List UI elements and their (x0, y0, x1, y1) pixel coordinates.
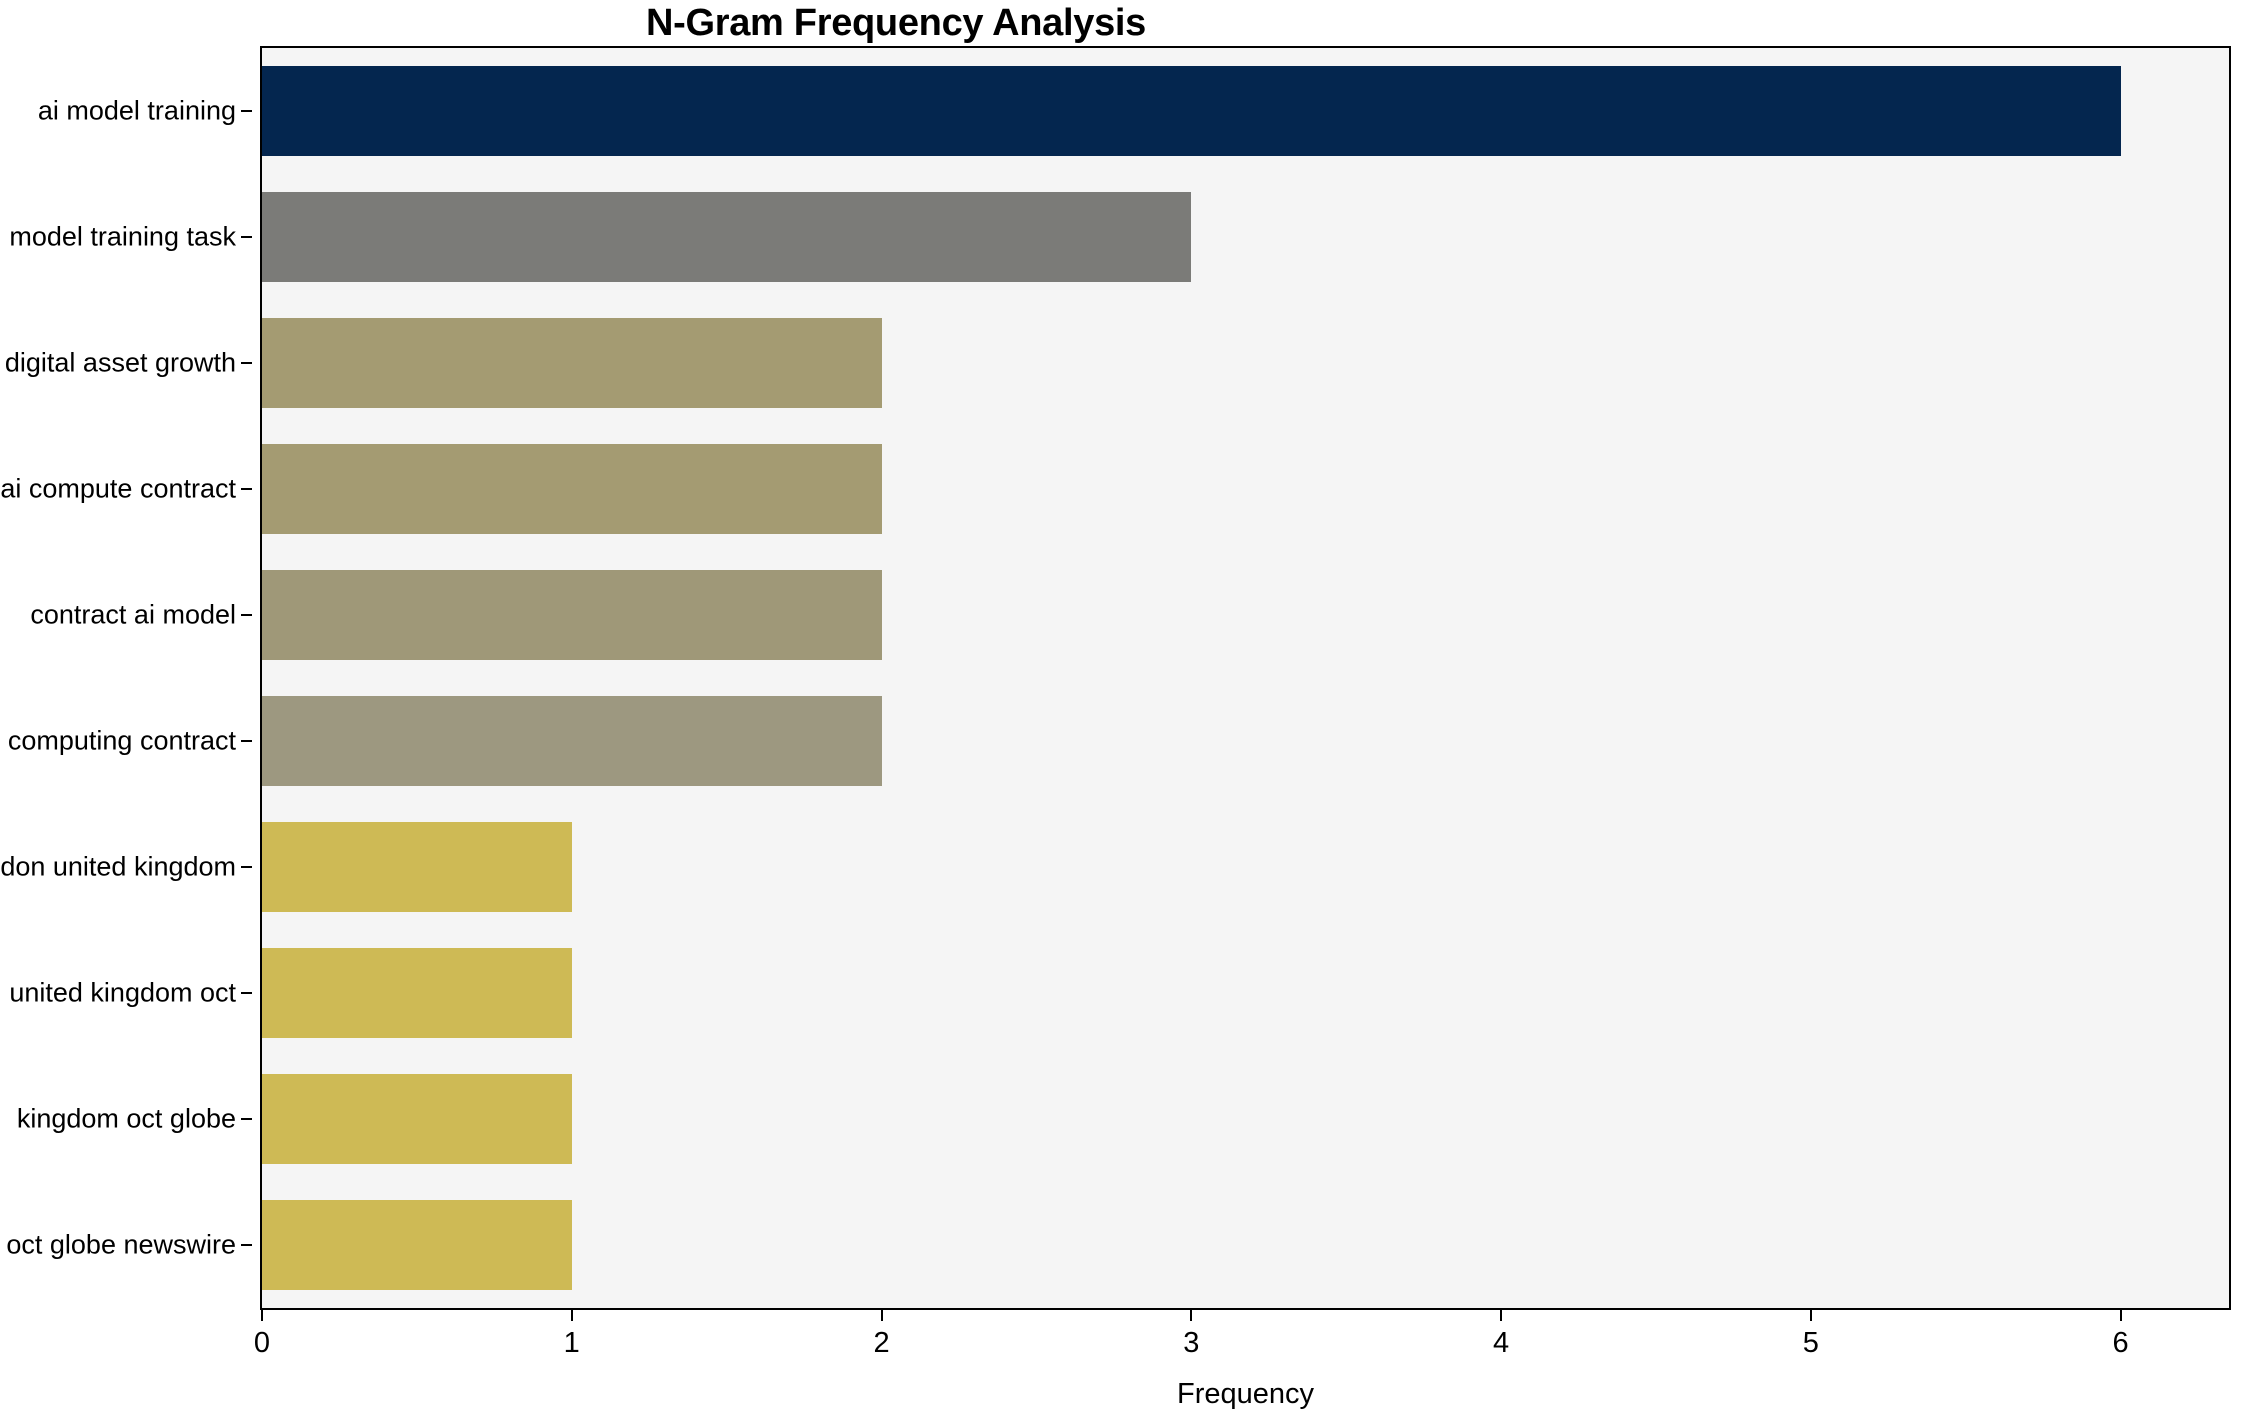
y-tick-label: contract ai model (30, 600, 236, 631)
y-tick-mark (241, 362, 252, 364)
bar-row (262, 570, 2229, 661)
x-tick-label: 3 (1183, 1327, 1199, 1360)
bar-london-united-kingdom[interactable] (262, 822, 572, 913)
bar-ai-compute-contract[interactable] (262, 444, 882, 535)
x-axis: Frequency 0123456 (260, 1310, 2231, 1414)
bar-row (262, 192, 2229, 283)
y-axis: ai model trainingmodel training taskdigi… (0, 46, 252, 1310)
bar-oct-globe-newswire[interactable] (262, 1200, 572, 1291)
bar-ai-computing-contract[interactable] (262, 696, 882, 787)
x-tick-mark (261, 1310, 263, 1321)
x-tick-mark (571, 1310, 573, 1321)
bar-model-training-task[interactable] (262, 192, 1191, 283)
bar-contract-ai-model[interactable] (262, 570, 882, 661)
page-title: N-Gram Frequency Analysis (260, 2, 1532, 45)
x-tick-label: 2 (873, 1327, 889, 1360)
bar-row (262, 318, 2229, 409)
x-tick-mark (1500, 1310, 1502, 1321)
bar-digital-asset-growth[interactable] (262, 318, 882, 409)
y-tick-mark (241, 740, 252, 742)
y-tick-mark (241, 110, 252, 112)
y-tick-label: london united kingdom (0, 852, 236, 883)
x-axis-title: Frequency (260, 1378, 2231, 1411)
bar-ai-model-training[interactable] (262, 66, 2121, 157)
x-tick-label: 5 (1803, 1327, 1819, 1360)
plot-area (260, 46, 2231, 1310)
bar-row (262, 66, 2229, 157)
x-tick-mark (881, 1310, 883, 1321)
y-tick-label: model training task (9, 222, 236, 253)
x-tick-mark (1190, 1310, 1192, 1321)
bar-row (262, 948, 2229, 1039)
y-tick-mark (241, 992, 252, 994)
bar-row (262, 1074, 2229, 1165)
bar-row (262, 444, 2229, 535)
x-tick-mark (1810, 1310, 1812, 1321)
x-tick-label: 0 (254, 1327, 270, 1360)
y-tick-label: oct globe newswire (6, 1230, 236, 1261)
y-tick-mark (241, 866, 252, 868)
x-tick-label: 4 (1493, 1327, 1509, 1360)
bar-row (262, 822, 2229, 913)
bar-united-kingdom-oct[interactable] (262, 948, 572, 1039)
y-tick-mark (241, 488, 252, 490)
x-tick-label: 1 (564, 1327, 580, 1360)
bar-kingdom-oct-globe[interactable] (262, 1074, 572, 1165)
y-tick-label: ai computing contract (0, 726, 236, 757)
y-tick-mark (241, 614, 252, 616)
x-tick-mark (2120, 1310, 2122, 1321)
bar-row (262, 696, 2229, 787)
y-tick-label: digital asset growth (5, 348, 236, 379)
y-tick-mark (241, 1118, 252, 1120)
y-tick-mark (241, 236, 252, 238)
y-tick-mark (241, 1244, 252, 1246)
y-tick-label: united kingdom oct (9, 978, 236, 1009)
y-tick-label: ai compute contract (0, 474, 236, 505)
y-tick-label: ai model training (38, 96, 236, 127)
y-tick-label: kingdom oct globe (17, 1104, 236, 1135)
bars-layer (262, 48, 2229, 1308)
bar-row (262, 1200, 2229, 1291)
x-tick-label: 6 (2113, 1327, 2129, 1360)
